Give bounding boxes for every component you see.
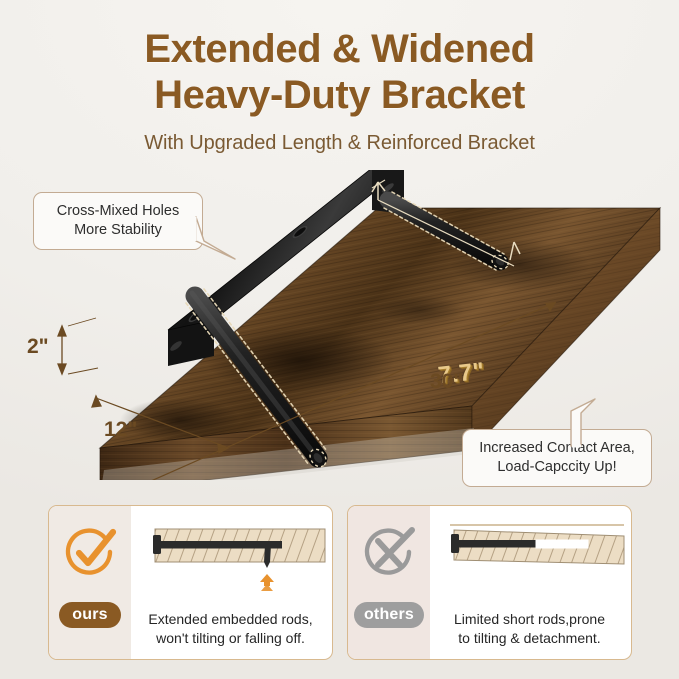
comparison-panel-others: others Limited short rods,prone to tilti… [347,505,632,660]
badge-others: others [354,602,424,628]
badge-ours: ours [59,602,121,628]
caption-others: Limited short rods,prone to tilting & de… [434,610,625,648]
callout-tail-left [195,215,243,263]
callout-right-line-2: Load-Capccity Up! [473,458,641,477]
caption-ours: Extended embedded rods, won't tilting or… [135,610,326,648]
dimension-label-length: 30" [430,370,463,394]
callout-increased-contact-area: Increased Contact Area, Load-Capccity Up… [462,429,652,487]
caption-ours-line-1: Extended embedded rods, [135,610,326,629]
comparison-panel-ours: ours Exten [48,505,333,660]
caption-others-line-2: to tilting & detachment. [434,629,625,648]
dimension-label-depth: 12" [104,418,137,442]
diagram-ours [133,512,331,600]
caption-ours-line-2: won't tilting or falling off. [135,629,326,648]
callout-left-line-2: More Stability [44,221,192,240]
caption-others-line-1: Limited short rods,prone [434,610,625,629]
x-circle-icon [360,524,418,582]
infographic-root: Extended & Widened Heavy-Duty Bracket Wi… [0,0,679,679]
callout-tail-right [567,399,615,447]
callout-left-line-1: Cross-Mixed Holes [44,202,192,221]
dimension-label-height: 2" [27,335,49,359]
check-circle-icon [61,524,119,582]
callout-cross-mixed-holes: Cross-Mixed Holes More Stability [33,192,203,250]
callout-right-line-1: Increased Contact Area, [473,439,641,458]
diagram-others [432,512,630,600]
